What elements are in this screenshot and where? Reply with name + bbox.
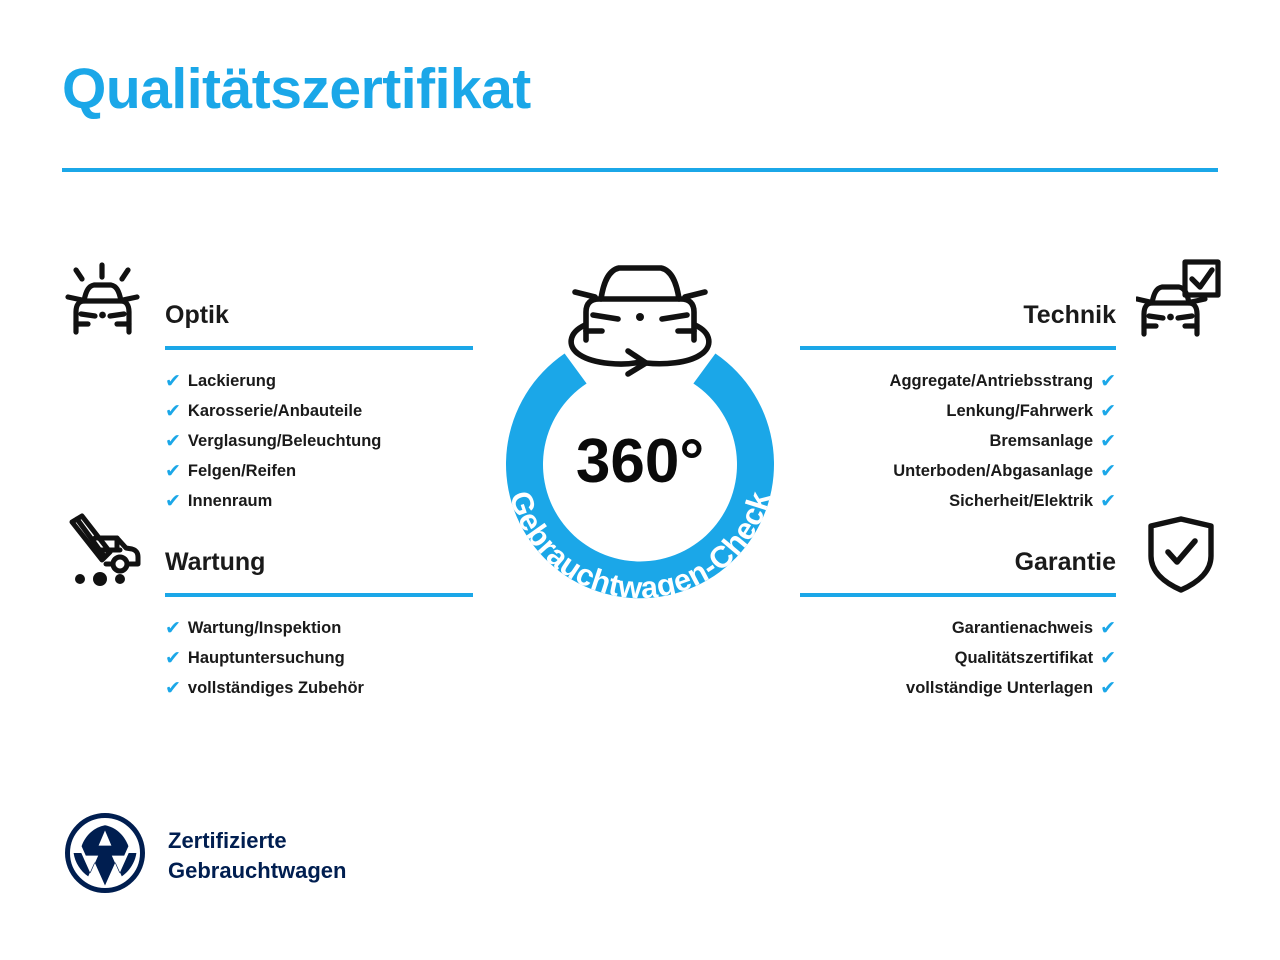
check-icon: ✔ xyxy=(1100,402,1116,421)
section-header-optik: Optik xyxy=(165,298,473,350)
list-item: ✔ Lackierung xyxy=(165,366,473,396)
check-icon: ✔ xyxy=(1100,679,1116,698)
section-title-technik: Technik xyxy=(800,298,1116,332)
list-item-label: Wartung/Inspektion xyxy=(188,613,341,643)
check-icon: ✔ xyxy=(165,649,181,668)
check-icon: ✔ xyxy=(165,372,181,391)
section-divider-wartung xyxy=(165,593,473,597)
list-item: ✔ Verglasung/Beleuchtung xyxy=(165,426,473,456)
section-title-garantie: Garantie xyxy=(800,545,1116,579)
section-header-wartung: Wartung xyxy=(165,545,473,597)
check-icon: ✔ xyxy=(165,679,181,698)
check-icon: ✔ xyxy=(165,432,181,451)
title-divider xyxy=(62,168,1218,172)
list-item: Qualitätszertifikat ✔ xyxy=(800,643,1116,673)
list-item: Sicherheit/Elektrik ✔ xyxy=(800,486,1116,516)
list-item-label: vollständige Unterlagen xyxy=(906,673,1093,703)
list-item: ✔ Wartung/Inspektion xyxy=(165,613,473,643)
list-item: ✔ vollständiges Zubehör xyxy=(165,673,473,703)
list-item-label: Aggregate/Antriebsstrang xyxy=(890,366,1094,396)
car-rotate-360-icon xyxy=(571,268,709,374)
list-item: Aggregate/Antriebsstrang ✔ xyxy=(800,366,1116,396)
gebrauchtwagen-check-badge: Gebrauchtwagen-Check 360° xyxy=(468,252,812,624)
shield-check-icon xyxy=(1144,514,1218,599)
list-item-label: Lenkung/Fahrwerk xyxy=(946,396,1093,426)
section-optik: Optik ✔ Lackierung ✔ Karosserie/Anbautei… xyxy=(165,298,473,516)
section-list-wartung: ✔ Wartung/Inspektion ✔ Hauptuntersuchung… xyxy=(165,613,473,703)
footer-text: Zertifizierte Gebrauchtwagen xyxy=(168,826,346,886)
list-item-label: Garantienachweis xyxy=(952,613,1093,643)
page-title: Qualitätszertifikat xyxy=(62,58,531,121)
list-item: Lenkung/Fahrwerk ✔ xyxy=(800,396,1116,426)
check-icon: ✔ xyxy=(1100,462,1116,481)
list-item-label: Innenraum xyxy=(188,486,272,516)
car-front-shine-icon xyxy=(62,258,144,345)
list-item: Garantienachweis ✔ xyxy=(800,613,1116,643)
list-item: ✔ Karosserie/Anbauteile xyxy=(165,396,473,426)
list-item-label: Hauptuntersuchung xyxy=(188,643,345,673)
list-item-label: Lackierung xyxy=(188,366,276,396)
section-title-wartung: Wartung xyxy=(165,545,473,579)
check-icon: ✔ xyxy=(1100,492,1116,511)
list-item: Unterboden/Abgasanlage ✔ xyxy=(800,456,1116,486)
section-divider-technik xyxy=(800,346,1116,350)
car-front-checkbox-icon xyxy=(1136,258,1222,345)
list-item-label: Qualitätszertifikat xyxy=(955,643,1093,673)
check-icon: ✔ xyxy=(1100,649,1116,668)
check-icon: ✔ xyxy=(165,402,181,421)
list-item-label: Verglasung/Beleuchtung xyxy=(188,426,381,456)
list-item: ✔ Hauptuntersuchung xyxy=(165,643,473,673)
list-item-label: vollständiges Zubehör xyxy=(188,673,364,703)
section-list-optik: ✔ Lackierung ✔ Karosserie/Anbauteile ✔ V… xyxy=(165,366,473,516)
check-icon: ✔ xyxy=(1100,619,1116,638)
list-item-label: Sicherheit/Elektrik xyxy=(949,486,1093,516)
list-item-label: Karosserie/Anbauteile xyxy=(188,396,362,426)
section-divider-garantie xyxy=(800,593,1116,597)
volkswagen-logo xyxy=(64,812,146,899)
section-header-technik: Technik xyxy=(800,298,1116,350)
section-title-optik: Optik xyxy=(165,298,473,332)
list-item: vollständige Unterlagen ✔ xyxy=(800,673,1116,703)
list-item: Bremsanlage ✔ xyxy=(800,426,1116,456)
list-item-label: Unterboden/Abgasanlage xyxy=(893,456,1093,486)
footer-branding: Zertifizierte Gebrauchtwagen xyxy=(64,812,346,899)
check-icon: ✔ xyxy=(165,492,181,511)
badge-center-label: 360° xyxy=(576,427,704,496)
check-icon: ✔ xyxy=(165,462,181,481)
wrench-car-service-icon xyxy=(62,508,144,595)
section-list-garantie: Garantienachweis ✔ Qualitätszertifikat ✔… xyxy=(800,613,1116,703)
section-technik: Technik Aggregate/Antriebsstrang ✔ Lenku… xyxy=(800,298,1116,516)
section-header-garantie: Garantie xyxy=(800,545,1116,597)
certificate-page: Qualitätszertifikat xyxy=(0,0,1280,960)
list-item-label: Bremsanlage xyxy=(989,426,1093,456)
list-item: ✔ Felgen/Reifen xyxy=(165,456,473,486)
section-garantie: Garantie Garantienachweis ✔ Qualitätszer… xyxy=(800,545,1116,703)
section-wartung: Wartung ✔ Wartung/Inspektion ✔ Hauptunte… xyxy=(165,545,473,703)
list-item-label: Felgen/Reifen xyxy=(188,456,296,486)
section-list-technik: Aggregate/Antriebsstrang ✔ Lenkung/Fahrw… xyxy=(800,366,1116,516)
section-divider-optik xyxy=(165,346,473,350)
check-icon: ✔ xyxy=(1100,372,1116,391)
check-icon: ✔ xyxy=(165,619,181,638)
list-item: ✔ Innenraum xyxy=(165,486,473,516)
check-icon: ✔ xyxy=(1100,432,1116,451)
